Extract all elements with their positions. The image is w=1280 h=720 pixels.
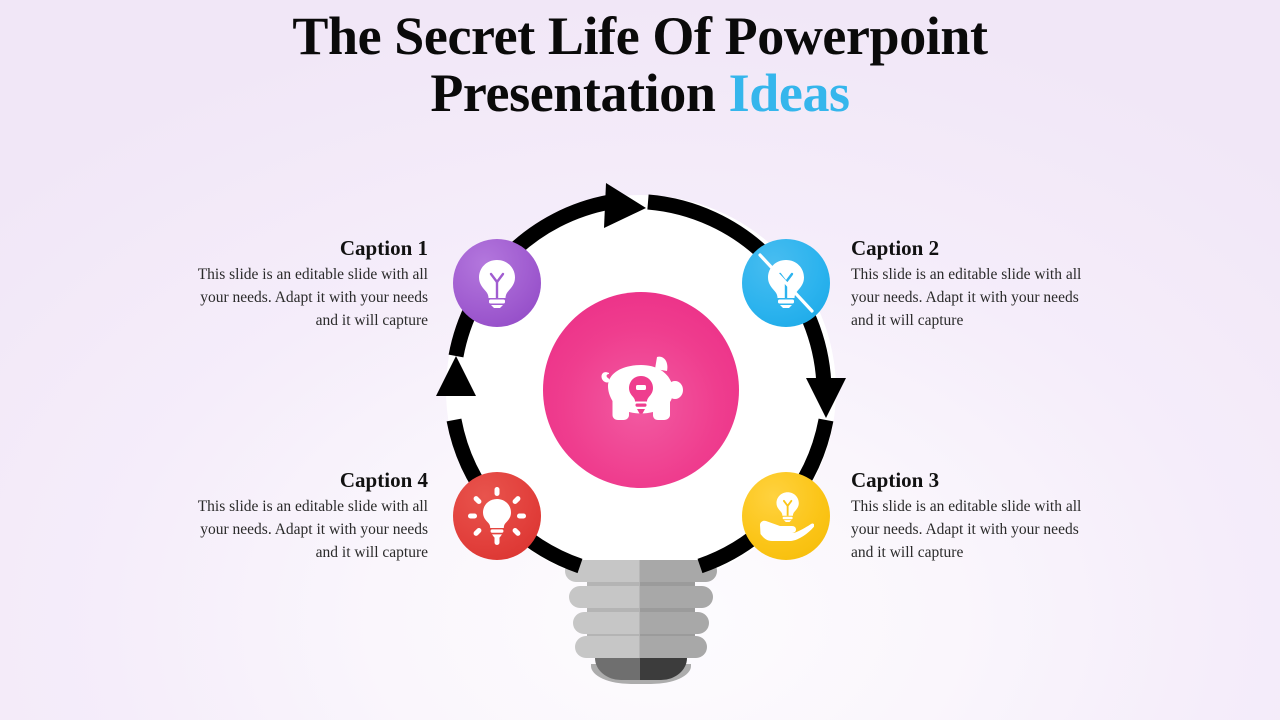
piggy-bank-lightbulb-icon xyxy=(591,345,691,435)
ring-arrow-left xyxy=(436,356,476,396)
caption-block-3: Caption 3 This slide is an editable slid… xyxy=(851,468,1101,564)
lightbulb-off-icon xyxy=(756,252,816,314)
caption-title-4: Caption 4 xyxy=(178,468,428,493)
node-circle-caption-4[interactable] xyxy=(453,472,541,560)
caption-block-2: Caption 2 This slide is an editable slid… xyxy=(851,236,1101,332)
node-circle-caption-1[interactable] xyxy=(453,239,541,327)
node-circle-caption-2[interactable] xyxy=(742,239,830,327)
lightbulb-cycle-diagram xyxy=(0,0,1280,720)
center-node-piggy-bank[interactable] xyxy=(543,292,739,488)
caption-title-3: Caption 3 xyxy=(851,468,1101,493)
hand-holding-lightbulb-icon xyxy=(758,489,814,543)
caption-body-3: This slide is an editable slide with all… xyxy=(851,496,1101,564)
caption-title-1: Caption 1 xyxy=(178,236,428,261)
slide-canvas: The Secret Life Of Powerpoint Presentati… xyxy=(0,0,1280,720)
node-circle-caption-3[interactable] xyxy=(742,472,830,560)
lightbulb-icon xyxy=(475,258,519,308)
caption-title-2: Caption 2 xyxy=(851,236,1101,261)
caption-block-4: Caption 4 This slide is an editable slid… xyxy=(178,468,428,564)
caption-block-1: Caption 1 This slide is an editable slid… xyxy=(178,236,428,332)
caption-body-4: This slide is an editable slide with all… xyxy=(178,496,428,564)
caption-body-1: This slide is an editable slide with all… xyxy=(178,264,428,332)
shining-lightbulb-icon xyxy=(468,487,526,545)
caption-body-2: This slide is an editable slide with all… xyxy=(851,264,1101,332)
ring-arrow-right xyxy=(806,378,846,418)
ring-arrow-top xyxy=(604,183,646,228)
